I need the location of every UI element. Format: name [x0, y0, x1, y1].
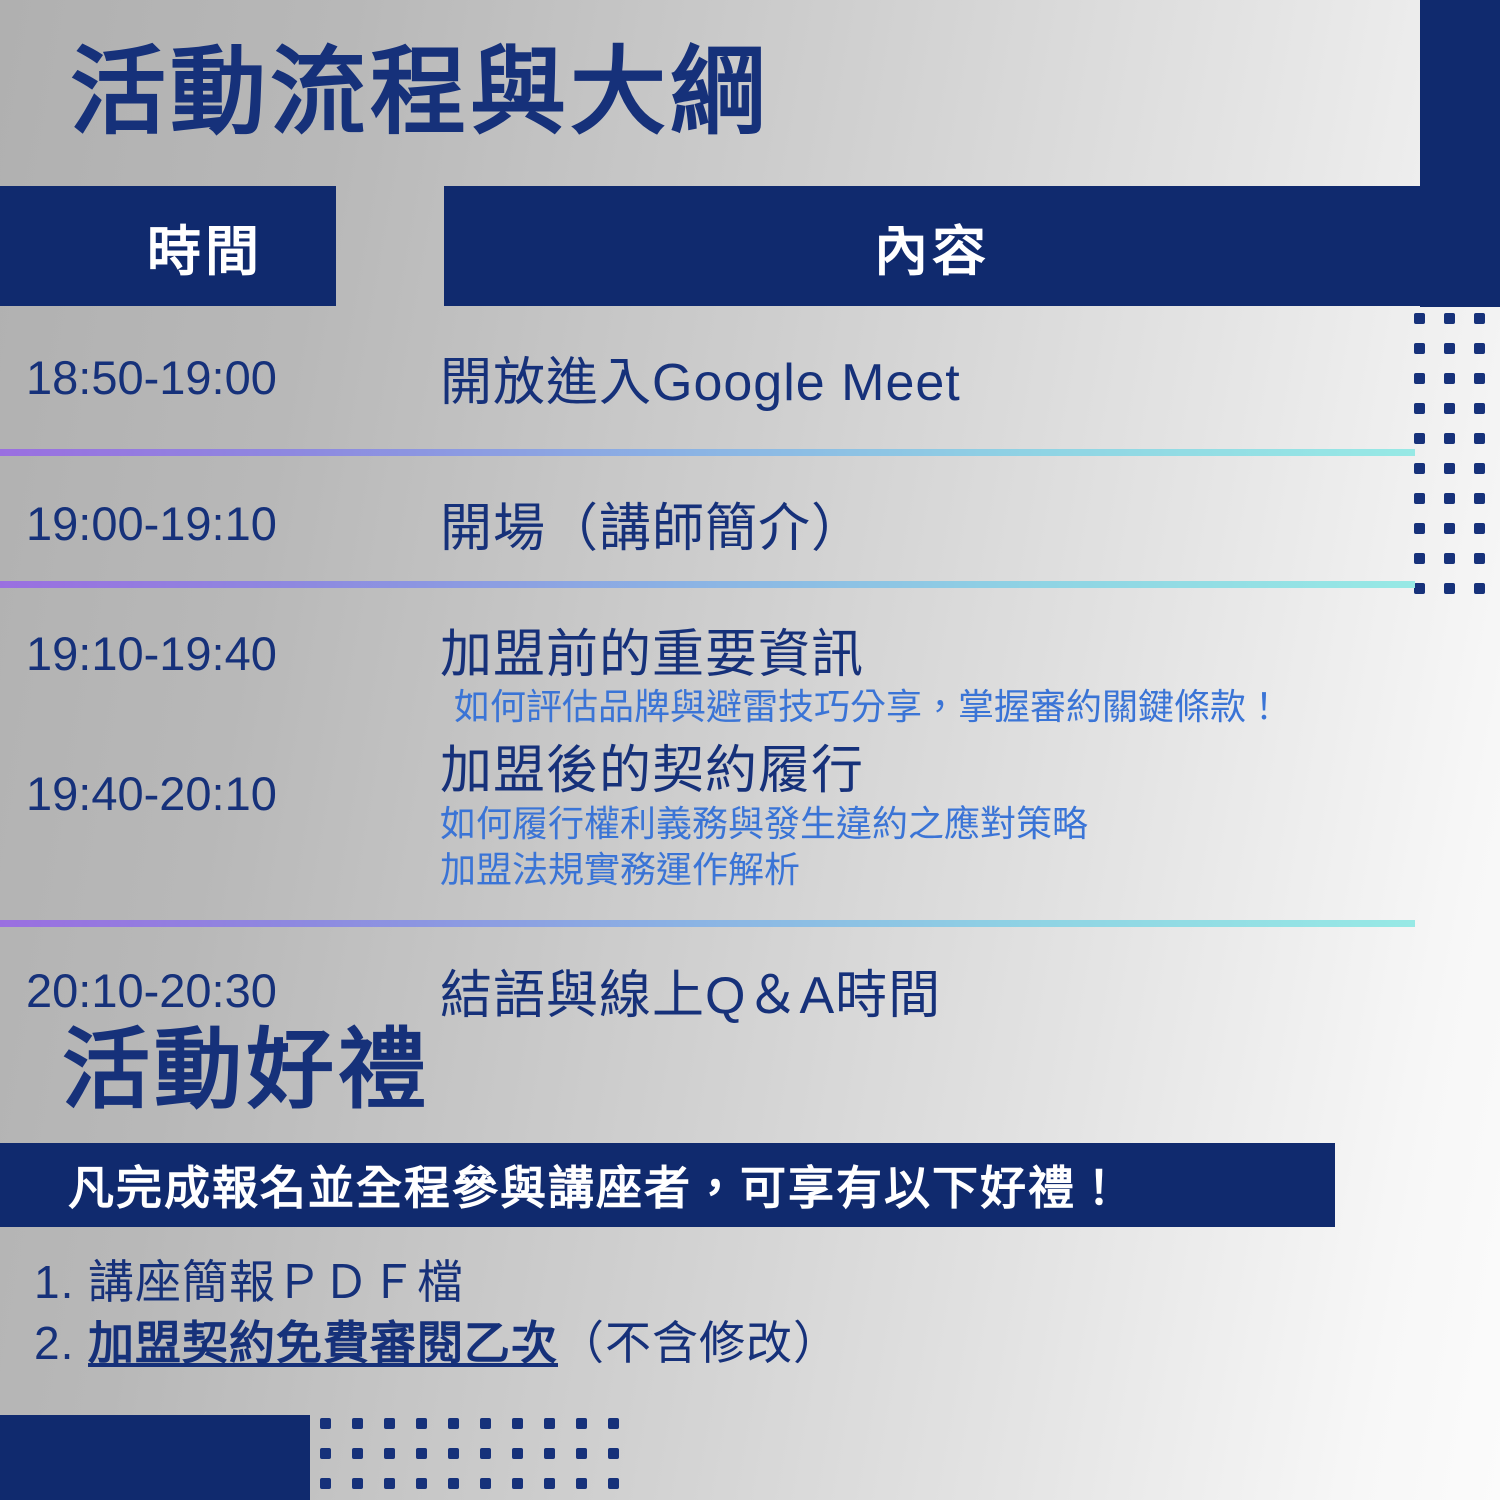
decorative-blue-strip-top-right — [1420, 0, 1500, 307]
row-divider — [0, 449, 1415, 456]
dot-icon — [416, 1418, 427, 1429]
row-time: 19:40-20:10 — [26, 770, 277, 817]
row-headline: 開放進入Google Meet — [440, 354, 1410, 412]
dot-icon — [1444, 583, 1455, 594]
dot-icon — [352, 1448, 363, 1459]
dot-icon — [512, 1478, 523, 1489]
table-row-group: 19:10-19:40 19:40-20:10 加盟前的重要資訊 如何評估品牌與… — [0, 588, 1420, 920]
page-title: 活動流程與大綱 — [70, 40, 770, 146]
dot-icon — [448, 1418, 459, 1429]
dot-icon — [576, 1448, 587, 1459]
dot-grid-bottom — [320, 1418, 640, 1500]
row-content-secondary: 加盟後的契約履行 如何履行權利義務與發生違約之應對策略 加盟法規實務運作解析 — [440, 742, 1410, 892]
list-item: 2. 加盟契約免費審閱乙次 （不含修改） — [34, 1313, 1234, 1374]
dot-icon — [480, 1418, 491, 1429]
dot-icon — [1474, 463, 1485, 474]
row-headline: 結語與線上Q＆A時間 — [440, 967, 1410, 1025]
decorative-blue-block-bottom-left — [0, 1415, 310, 1500]
dot-icon — [512, 1448, 523, 1459]
dot-icon — [384, 1478, 395, 1489]
poster-canvas: 活動流程與大綱 時間 內容 18:50-19:00 開放進入Google Mee… — [0, 0, 1500, 1500]
dot-icon — [384, 1448, 395, 1459]
table-header-content: 內容 — [444, 186, 1420, 306]
dot-icon — [512, 1418, 523, 1429]
dot-icon — [352, 1478, 363, 1489]
dot-icon — [576, 1418, 587, 1429]
row-time: 19:00-19:10 — [0, 500, 440, 547]
row-time: 19:10-19:40 — [0, 626, 440, 677]
dot-icon — [352, 1418, 363, 1429]
dot-icon — [1444, 493, 1455, 504]
dot-icon — [544, 1448, 555, 1459]
gifts-banner: 凡完成報名並全程參與講座者，可享有以下好禮！ — [0, 1143, 1335, 1227]
dot-icon — [1444, 403, 1455, 414]
row-subtext: 加盟法規實務運作解析 — [440, 847, 1410, 893]
row-content: 加盟前的重要資訊 如何評估品牌與避雷技巧分享，掌握審約關鍵條款！ 加盟後的契約履… — [440, 626, 1420, 893]
dot-icon — [1444, 553, 1455, 564]
dot-icon — [1474, 373, 1485, 384]
row-content: 開放進入Google Meet — [440, 354, 1420, 412]
table-row: 18:50-19:00 開放進入Google Meet — [0, 310, 1420, 449]
dot-icon — [1474, 433, 1485, 444]
schedule-table: 18:50-19:00 開放進入Google Meet 19:00-19:10 … — [0, 310, 1420, 1027]
dot-icon — [320, 1448, 331, 1459]
list-item-number: 2. — [34, 1313, 88, 1374]
gifts-section-title: 活動好禮 — [62, 1026, 430, 1114]
dot-icon — [1474, 313, 1485, 324]
dot-icon — [608, 1448, 619, 1459]
row-content: 結語與線上Q＆A時間 — [440, 967, 1420, 1025]
dot-icon — [1474, 493, 1485, 504]
dot-icon — [480, 1478, 491, 1489]
table-row: 19:00-19:10 開場（講師簡介） — [0, 456, 1420, 581]
row-divider — [0, 581, 1415, 588]
dot-icon — [1444, 463, 1455, 474]
dot-icon — [416, 1448, 427, 1459]
dot-icon — [1444, 433, 1455, 444]
list-item: 1. 講座簡報ＰＤＦ檔 — [34, 1252, 1234, 1313]
list-item-emphasis: 加盟契約免費審閱乙次 — [88, 1313, 558, 1374]
row-time: 18:50-19:00 — [0, 354, 440, 401]
dot-icon — [1444, 313, 1455, 324]
row-divider — [0, 920, 1415, 927]
dot-icon — [320, 1478, 331, 1489]
dot-icon — [1444, 343, 1455, 354]
gifts-list: 1. 講座簡報ＰＤＦ檔 2. 加盟契約免費審閱乙次 （不含修改） — [34, 1252, 1234, 1373]
dot-icon — [576, 1478, 587, 1489]
table-row: 20:10-20:30 結語與線上Q＆A時間 — [0, 927, 1420, 1027]
row-subtext: 如何評估品牌與避雷技巧分享，掌握審約關鍵條款！ — [440, 684, 1410, 730]
dot-icon — [416, 1478, 427, 1489]
row-headline: 加盟後的契約履行 — [440, 742, 1410, 800]
list-item-number: 1. — [34, 1252, 88, 1313]
dot-icon — [1444, 523, 1455, 534]
dot-icon — [1474, 583, 1485, 594]
row-headline: 加盟前的重要資訊 — [440, 626, 1410, 684]
dot-icon — [448, 1448, 459, 1459]
dot-icon — [480, 1448, 491, 1459]
list-item-text: 講座簡報ＰＤＦ檔 — [88, 1252, 464, 1313]
dot-icon — [608, 1478, 619, 1489]
list-item-tail: （不含修改） — [558, 1313, 840, 1374]
dot-icon — [544, 1418, 555, 1429]
dot-icon — [1474, 403, 1485, 414]
dot-icon — [608, 1418, 619, 1429]
table-header-time: 時間 — [0, 186, 336, 306]
row-time: 20:10-20:30 — [0, 967, 440, 1014]
dot-grid-right — [1414, 313, 1500, 613]
row-content: 開場（講師簡介） — [440, 500, 1420, 558]
dot-icon — [1474, 523, 1485, 534]
row-headline: 開場（講師簡介） — [440, 500, 1410, 558]
dot-icon — [384, 1418, 395, 1429]
row-subtext: 如何履行權利義務與發生違約之應對策略 — [440, 801, 1410, 847]
dot-icon — [544, 1478, 555, 1489]
dot-icon — [1474, 553, 1485, 564]
dot-icon — [320, 1418, 331, 1429]
dot-icon — [1444, 373, 1455, 384]
dot-icon — [448, 1478, 459, 1489]
dot-icon — [1474, 343, 1485, 354]
